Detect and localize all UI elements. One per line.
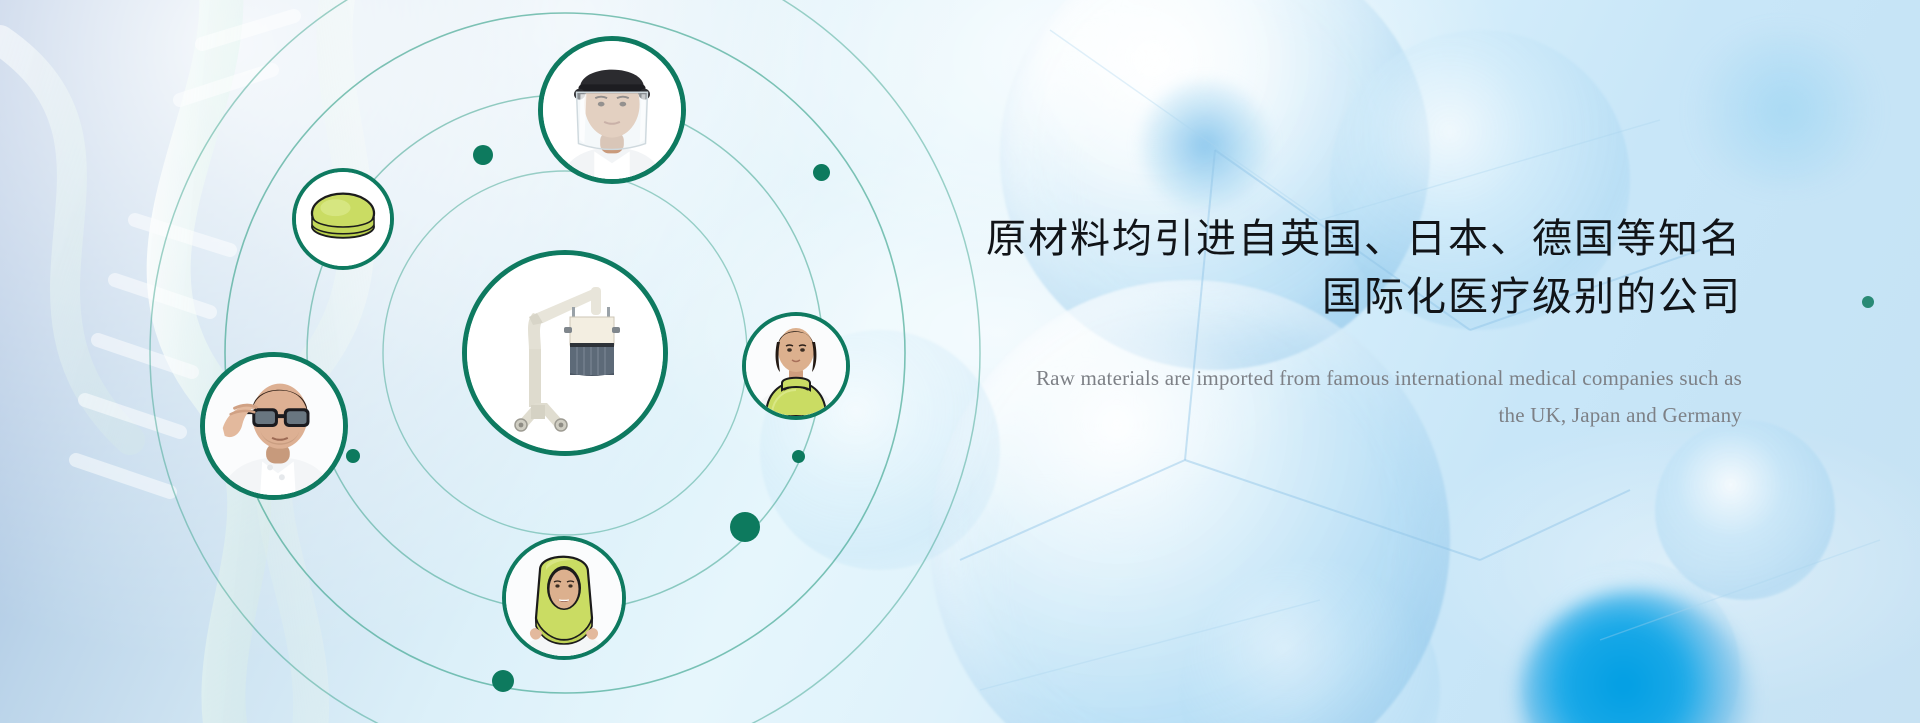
face-shield-illustration bbox=[543, 41, 681, 179]
lead-protective-glasses-photo bbox=[200, 352, 348, 500]
banner-copy-block: 原材料均引进自英国、日本、德国等知名 国际化医疗级别的公司 Raw materi… bbox=[982, 210, 1742, 434]
hero-banner: 原材料均引进自英国、日本、德国等知名 国际化医疗级别的公司 Raw materi… bbox=[0, 0, 1920, 723]
subtitle-block: Raw materials are imported from famous i… bbox=[982, 360, 1742, 434]
subtitle-line-2: the UK, Japan and Germany bbox=[982, 397, 1742, 434]
mobile-x-ray-shield-screen-photo bbox=[462, 250, 668, 456]
accent-dot-5 bbox=[730, 512, 760, 542]
accent-dot-4 bbox=[792, 450, 805, 463]
accent-dot-6 bbox=[492, 670, 514, 692]
lead-protective-hood-photo bbox=[502, 536, 626, 660]
protective-hood-illustration bbox=[506, 540, 622, 656]
thyroid-collar-illustration bbox=[746, 316, 846, 416]
lead-glasses-illustration bbox=[205, 357, 343, 495]
accent-dot-2 bbox=[813, 164, 830, 181]
subtitle-line-1: Raw materials are imported from famous i… bbox=[982, 360, 1742, 397]
accent-dot-1 bbox=[473, 145, 493, 165]
lead-protective-cap-photo bbox=[292, 168, 394, 270]
x-ray-screen-illustration bbox=[467, 255, 663, 451]
protective-cap-illustration bbox=[296, 172, 390, 266]
headline-line-1: 原材料均引进自英国、日本、德国等知名 bbox=[982, 210, 1742, 268]
thyroid-protective-collar-photo bbox=[742, 312, 850, 420]
x-ray-protective-face-shield-photo bbox=[538, 36, 686, 184]
headline-line-2: 国际化医疗级别的公司 bbox=[982, 268, 1742, 326]
accent-dot-7 bbox=[1862, 296, 1874, 308]
accent-dot-3 bbox=[346, 449, 360, 463]
